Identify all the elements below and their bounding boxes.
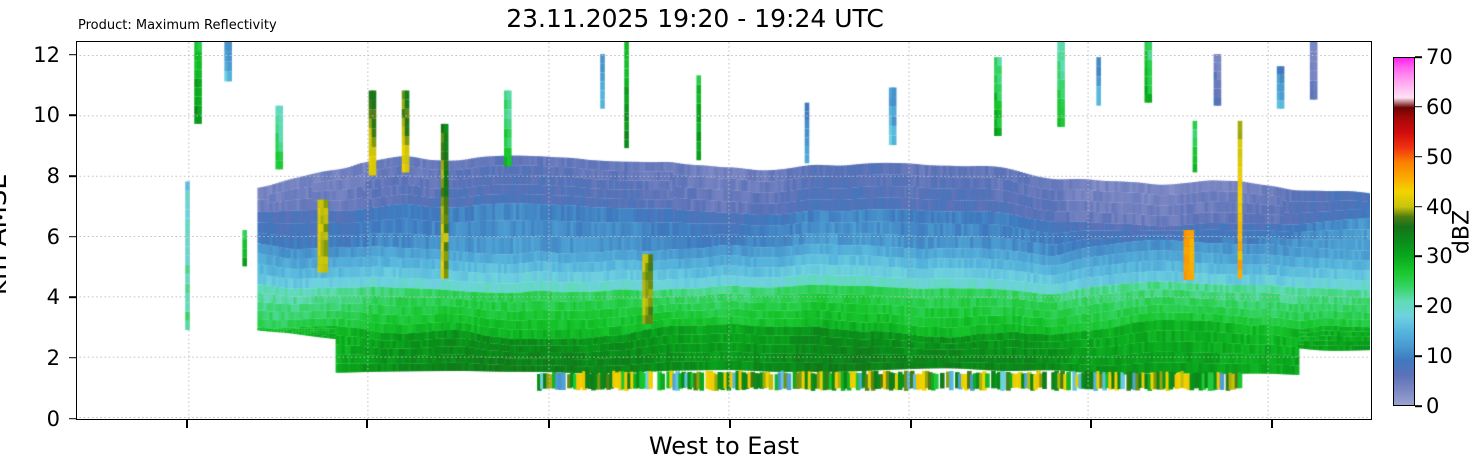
x-tick bbox=[186, 420, 188, 428]
y-tick bbox=[69, 296, 76, 298]
reflectivity-heatmap bbox=[77, 42, 1370, 418]
colorbar-tick bbox=[1415, 106, 1422, 108]
colorbar-tick-label-50: 50 bbox=[1426, 145, 1453, 169]
y-tick bbox=[69, 357, 76, 359]
x-tick bbox=[729, 420, 731, 428]
radar-cross-section-figure: 23.11.2025 19:20 - 19:24 UTC Product: Ma… bbox=[0, 0, 1482, 470]
colorbar-tick bbox=[1415, 405, 1422, 407]
y-tick bbox=[69, 54, 76, 56]
x-tick bbox=[1090, 420, 1092, 428]
x-tick bbox=[1271, 420, 1273, 428]
x-tick bbox=[910, 420, 912, 428]
y-tick bbox=[69, 418, 76, 420]
colorbar-tick bbox=[1415, 56, 1422, 58]
colorbar-tick bbox=[1415, 156, 1422, 158]
colorbar-tick-label-70: 70 bbox=[1426, 45, 1453, 69]
y-tick-label-2: 2 bbox=[47, 346, 60, 370]
colorbar-tick-label-20: 20 bbox=[1426, 294, 1453, 318]
y-tick bbox=[69, 236, 76, 238]
y-tick-label-6: 6 bbox=[47, 225, 60, 249]
y-axis-title: km AMSL bbox=[0, 135, 13, 335]
x-axis-ticks bbox=[76, 420, 1372, 432]
colorbar bbox=[1393, 57, 1415, 406]
y-tick-label-12: 12 bbox=[33, 43, 60, 67]
colorbar-tick-label-0: 0 bbox=[1426, 394, 1439, 418]
colorbar-tick-label-10: 10 bbox=[1426, 344, 1453, 368]
y-tick-label-8: 8 bbox=[47, 164, 60, 188]
x-axis-title: West to East bbox=[76, 432, 1372, 460]
colorbar-tick bbox=[1415, 206, 1422, 208]
y-tick bbox=[69, 175, 76, 177]
colorbar-tick bbox=[1415, 256, 1422, 258]
y-tick-label-4: 4 bbox=[47, 285, 60, 309]
y-tick bbox=[69, 114, 76, 116]
plot-area bbox=[76, 41, 1372, 420]
colorbar-tick bbox=[1415, 305, 1422, 307]
colorbar-tick-label-60: 60 bbox=[1426, 95, 1453, 119]
colorbar-title: dBZ bbox=[1450, 172, 1475, 292]
y-tick-label-10: 10 bbox=[33, 103, 60, 127]
colorbar-gradient bbox=[1393, 57, 1415, 406]
product-label: Product: Maximum Reflectivity bbox=[78, 18, 277, 33]
x-tick bbox=[548, 420, 550, 428]
y-tick-label-0: 0 bbox=[47, 407, 60, 431]
colorbar-tick bbox=[1415, 355, 1422, 357]
x-tick bbox=[366, 420, 368, 428]
